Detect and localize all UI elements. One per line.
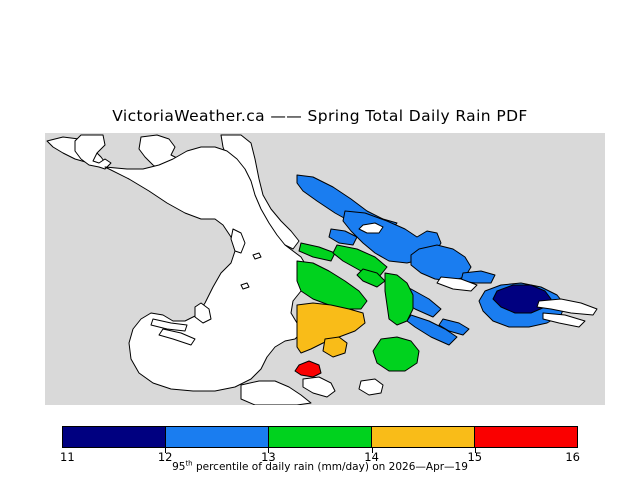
colorbar-band-navy[interactable] [63,427,166,447]
colorbar-band-blue[interactable] [166,427,269,447]
caption-prefix: 95 [172,461,185,473]
colorbar-bands[interactable] [62,426,578,448]
weather-map-page: VictoriaWeather.ca —— Spring Total Daily… [0,0,640,480]
map-panel[interactable] [45,133,605,405]
colorbar-caption: 95th percentile of daily rain (mm/day) o… [0,461,640,473]
colorbar-band-amber[interactable] [372,427,475,447]
colorbar-band-green[interactable] [269,427,372,447]
map-canvas[interactable] [45,133,605,405]
caption-suffix: percentile of daily rain (mm/day) on 202… [193,461,468,473]
colorbar[interactable] [62,426,578,448]
colorbar-band-red[interactable] [475,427,577,447]
page-title: VictoriaWeather.ca —— Spring Total Daily… [0,107,640,125]
caption-superscript: th [185,460,192,468]
